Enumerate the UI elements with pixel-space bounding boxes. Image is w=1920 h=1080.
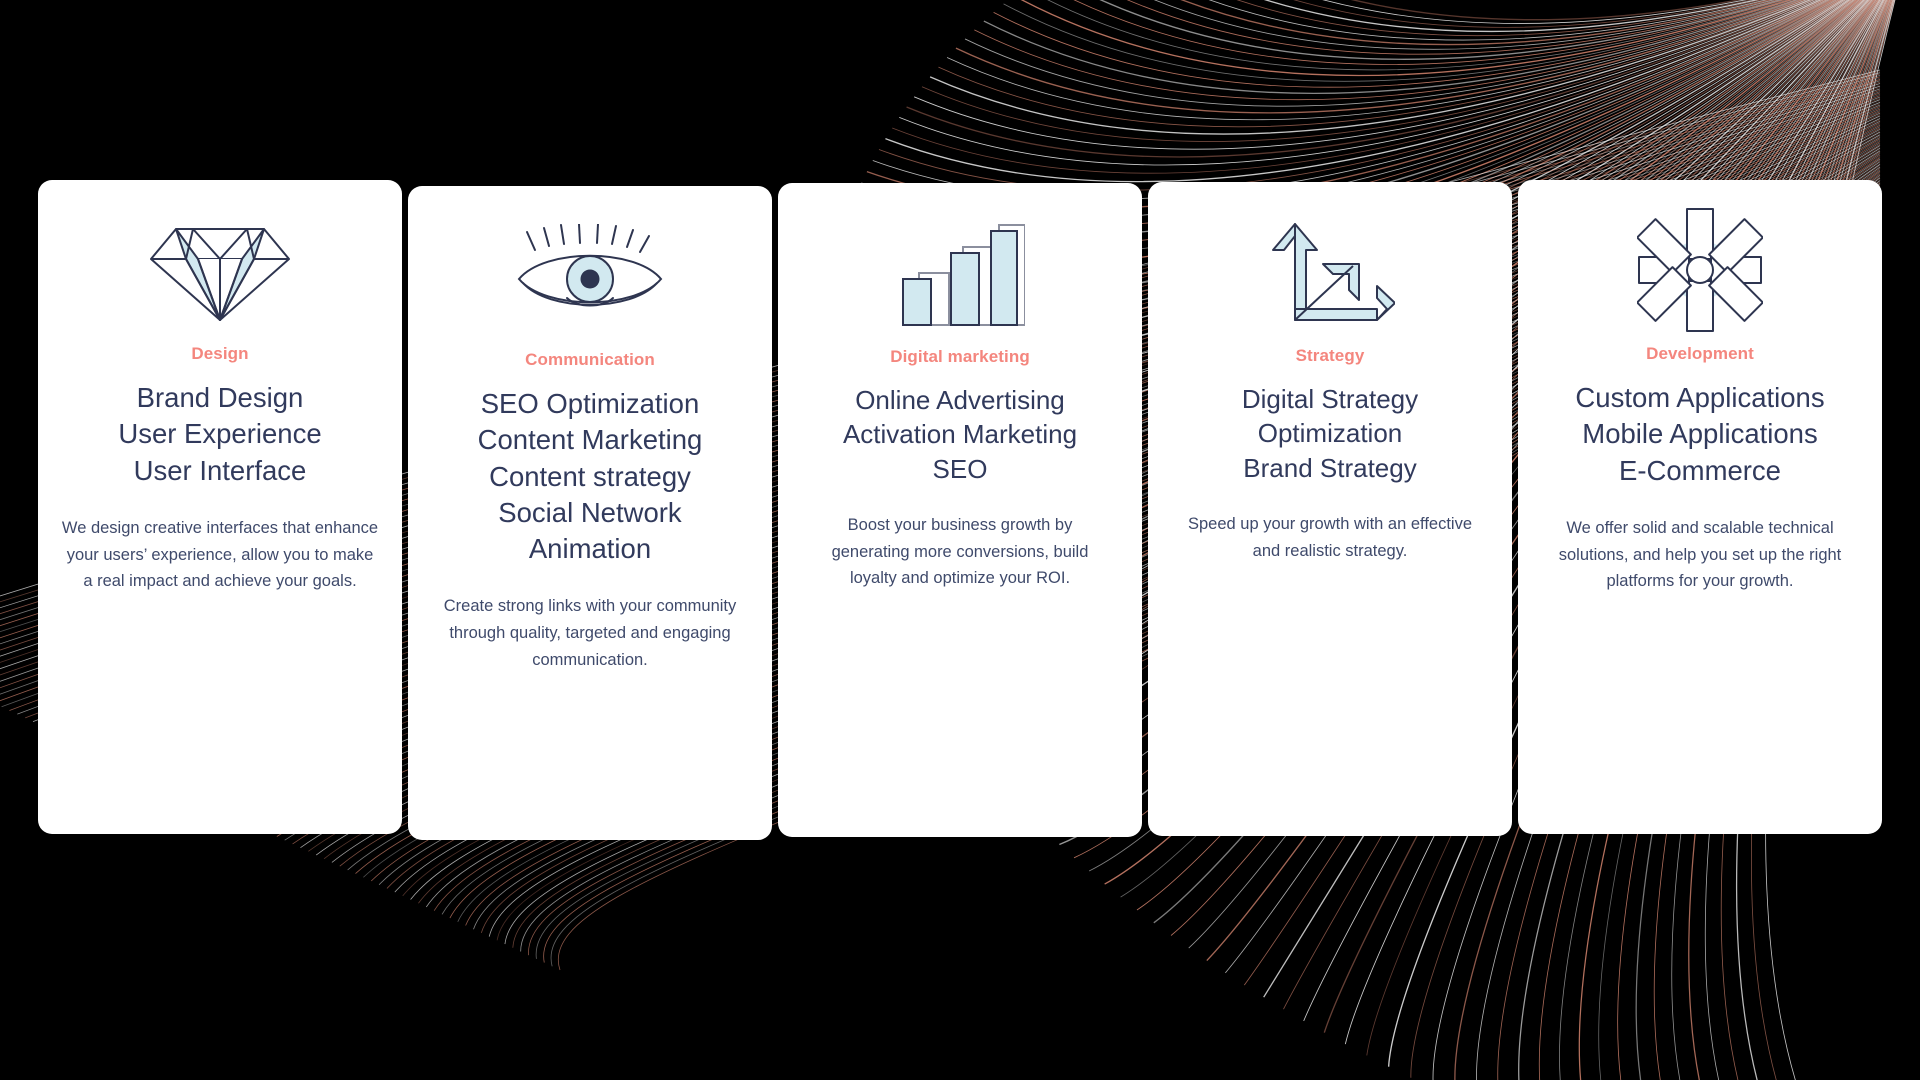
card-eyebrow: Design (191, 344, 248, 364)
service-item: Mobile Applications (1575, 416, 1824, 452)
service-item: Activation Marketing (843, 417, 1077, 451)
card-description: Boost your business growth by generating… (810, 512, 1110, 592)
card-services: SEO Optimization Content Marketing Conte… (478, 386, 703, 567)
gear-asterisk-icon (1637, 214, 1763, 326)
service-item: Brand Strategy (1242, 451, 1418, 485)
card-eyebrow: Strategy (1296, 346, 1365, 366)
service-item: Digital Strategy (1242, 382, 1418, 416)
card-services: Brand Design User Experience User Interf… (118, 380, 321, 489)
card-description: Create strong links with your community … (430, 593, 750, 673)
card-services: Online Advertising Activation Marketing … (843, 383, 1077, 486)
diamond-icon (146, 214, 294, 326)
card-description: We offer solid and scalable technical so… (1540, 515, 1860, 595)
service-item: SEO Optimization (478, 386, 703, 422)
card-eyebrow: Digital marketing (890, 347, 1030, 367)
service-card-strategy[interactable]: Strategy Digital Strategy Optimization B… (1148, 182, 1512, 836)
card-services: Digital Strategy Optimization Brand Stra… (1242, 382, 1418, 485)
service-item: Social Network (478, 495, 703, 531)
service-item: Online Advertising (843, 383, 1077, 417)
service-card-list: Design Brand Design User Experience User… (38, 180, 1882, 840)
service-item: SEO (843, 452, 1077, 486)
card-description: Speed up your growth with an effective a… (1180, 511, 1480, 564)
service-item: Content strategy (478, 459, 703, 495)
card-eyebrow: Communication (525, 350, 655, 370)
service-item: Optimization (1242, 416, 1418, 450)
service-card-design[interactable]: Design Brand Design User Experience User… (38, 180, 402, 834)
service-item: Brand Design (118, 380, 321, 416)
eye-icon (515, 220, 665, 332)
service-card-development[interactable]: Development Custom Applications Mobile A… (1518, 180, 1882, 834)
service-item: User Experience (118, 416, 321, 452)
card-services: Custom Applications Mobile Applications … (1575, 380, 1824, 489)
card-description: We design creative interfaces that enhan… (60, 515, 380, 595)
bar-chart-icon (895, 217, 1025, 329)
service-card-digital-marketing[interactable]: Digital marketing Online Advertising Act… (778, 183, 1142, 837)
services-section: Design Brand Design User Experience User… (0, 0, 1920, 1080)
service-item: E-Commerce (1575, 453, 1824, 489)
growth-arrows-icon (1265, 216, 1395, 328)
service-item: User Interface (118, 453, 321, 489)
service-card-communication[interactable]: Communication SEO Optimization Content M… (408, 186, 772, 840)
card-eyebrow: Development (1646, 344, 1754, 364)
service-item: Animation (478, 531, 703, 567)
service-item: Custom Applications (1575, 380, 1824, 416)
service-item: Content Marketing (478, 422, 703, 458)
